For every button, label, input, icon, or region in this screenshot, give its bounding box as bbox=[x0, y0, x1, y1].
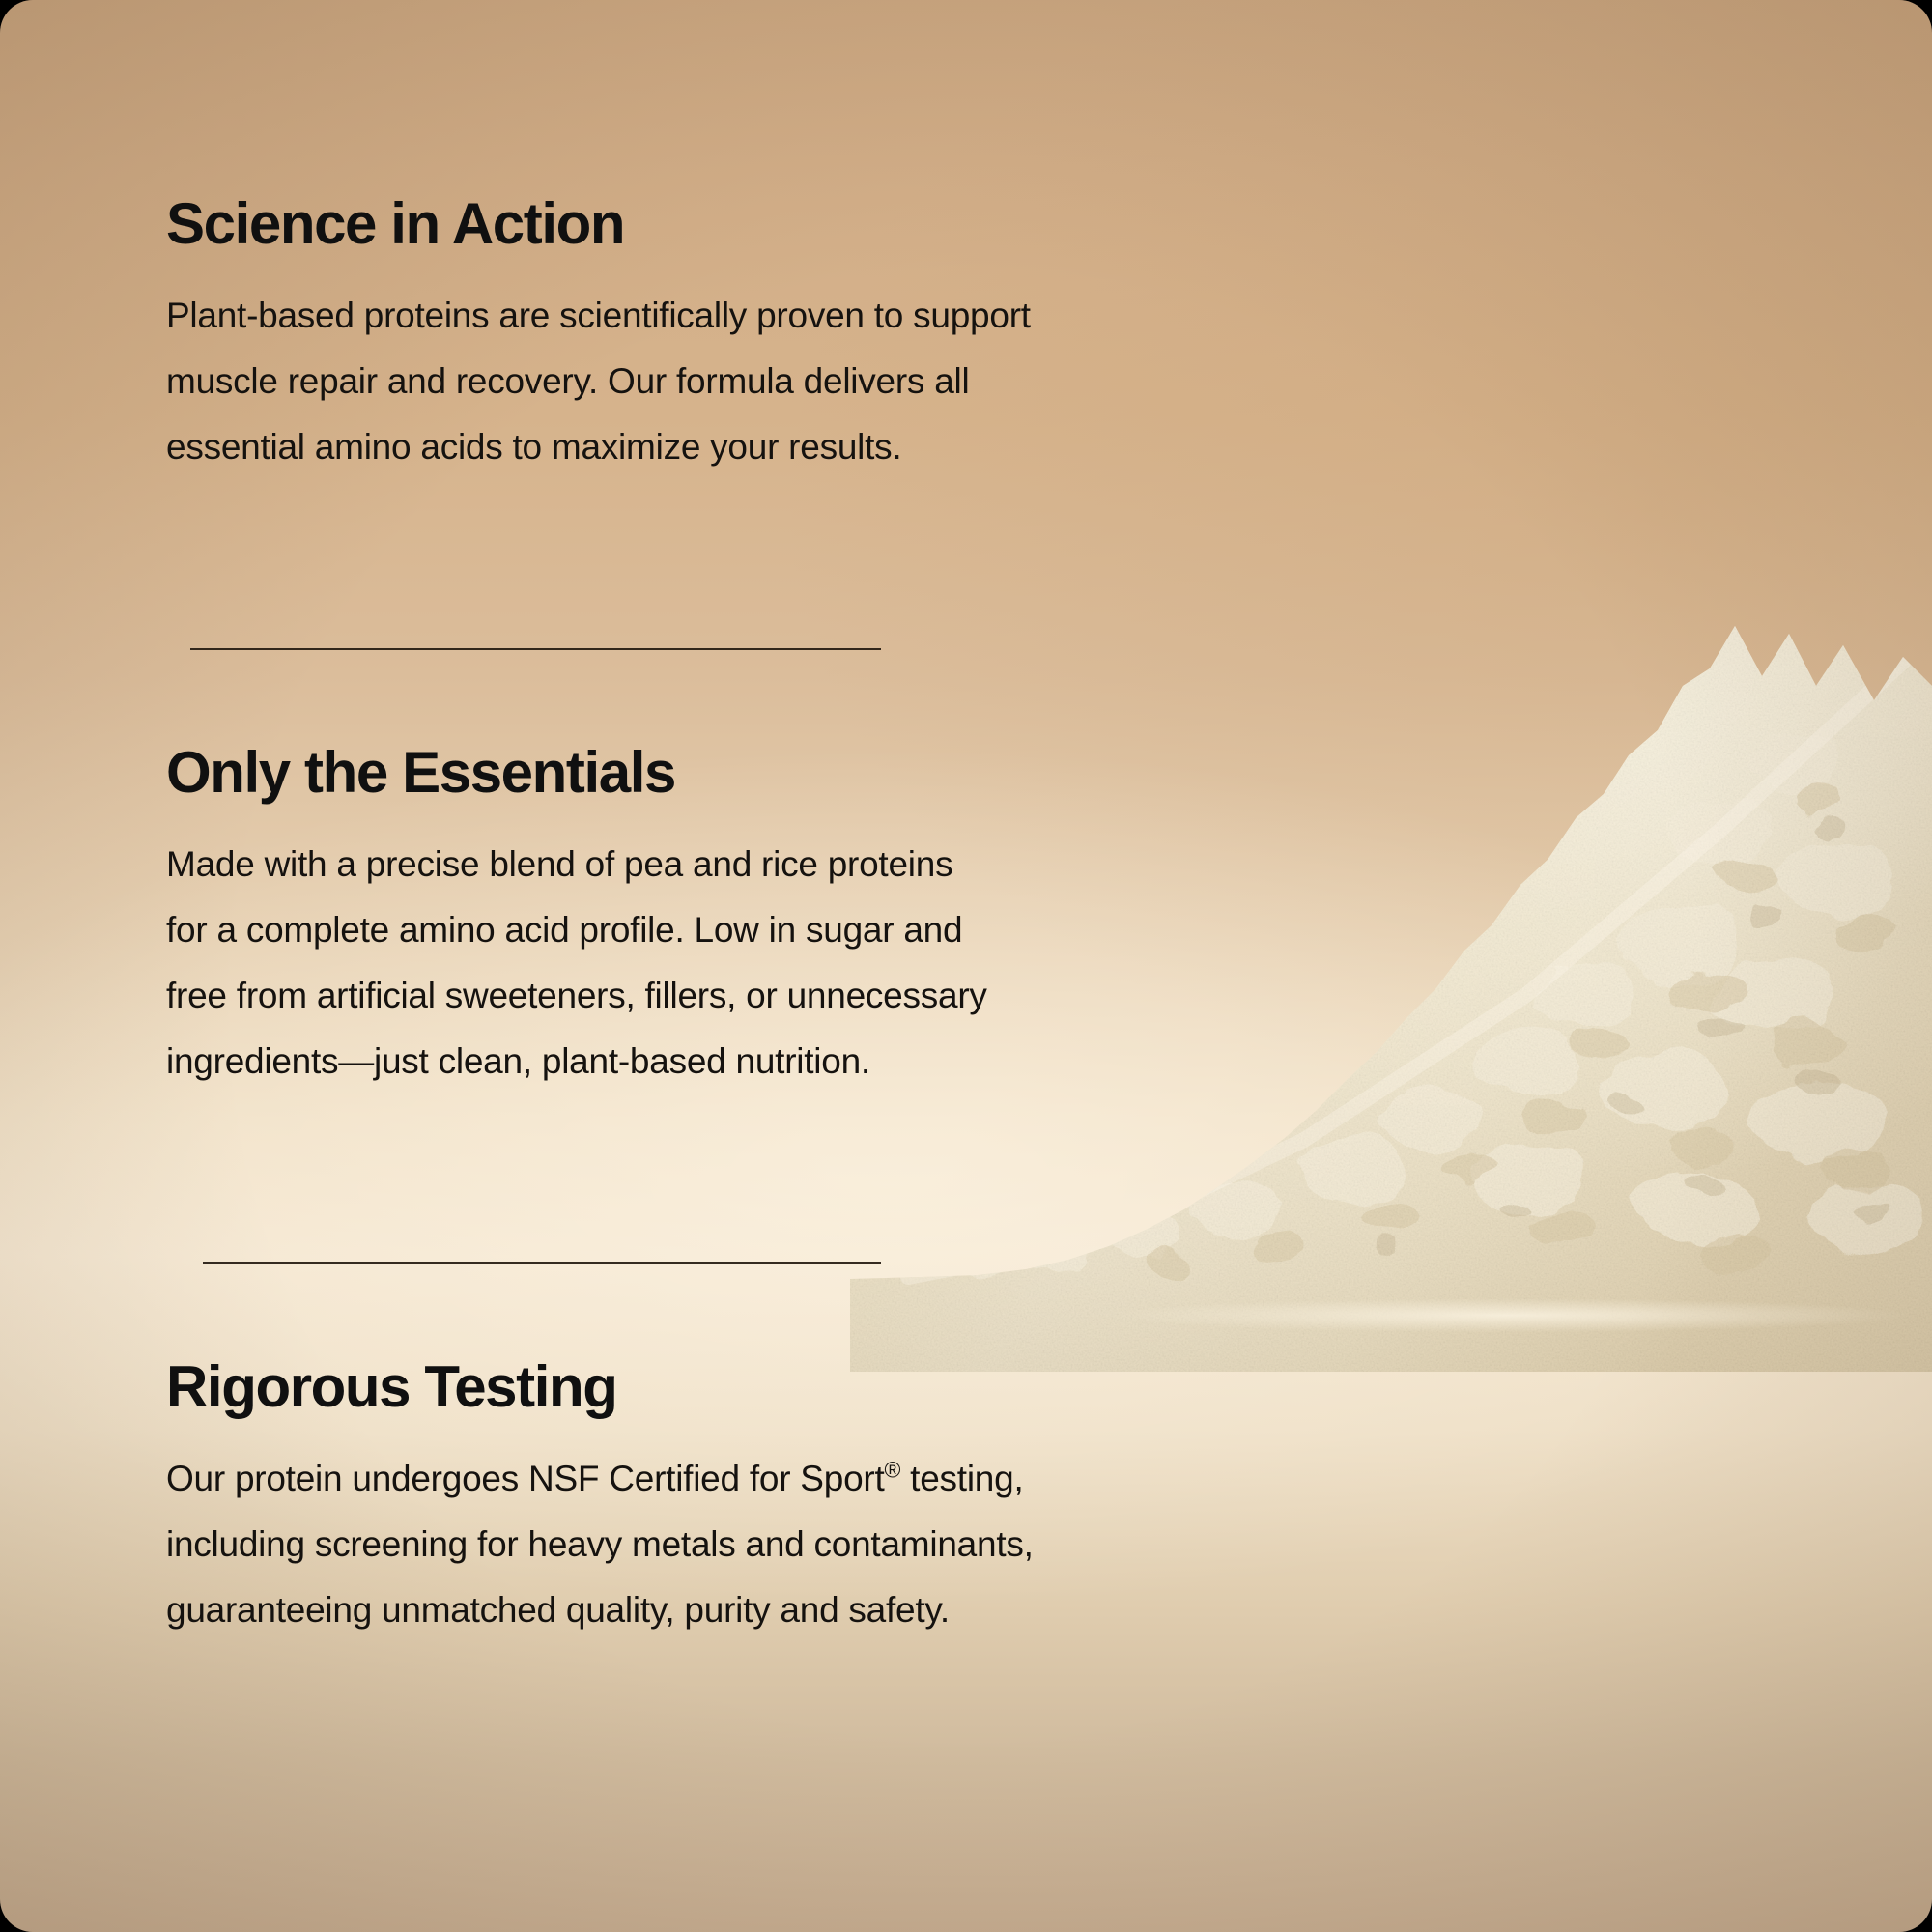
section-heading: Rigorous Testing bbox=[166, 1356, 1034, 1417]
section-divider bbox=[190, 648, 881, 650]
section-body: Made with a precise blend of pea and ric… bbox=[166, 832, 987, 1094]
section-rigorous-testing: Rigorous Testing Our protein undergoes N… bbox=[166, 1356, 1034, 1643]
body-line: Our protein undergoes NSF Certified for … bbox=[166, 1446, 1034, 1512]
section-body: Plant-based proteins are scientifically … bbox=[166, 283, 1031, 480]
body-line: ingredients—just clean, plant-based nutr… bbox=[166, 1029, 987, 1094]
body-line-text: Our protein undergoes NSF Certified for … bbox=[166, 1459, 885, 1498]
body-line: free from artificial sweeteners, fillers… bbox=[166, 963, 987, 1029]
body-line: guaranteeing unmatched quality, purity a… bbox=[166, 1577, 1034, 1643]
registered-trademark-mark: ® bbox=[885, 1458, 901, 1483]
body-line: Made with a precise blend of pea and ric… bbox=[166, 832, 987, 897]
body-line: for a complete amino acid profile. Low i… bbox=[166, 897, 987, 963]
section-science-in-action: Science in Action Plant-based proteins a… bbox=[166, 193, 1031, 480]
body-line-text: testing, bbox=[900, 1459, 1023, 1498]
powder-mound-image bbox=[850, 541, 1932, 1372]
section-only-the-essentials: Only the Essentials Made with a precise … bbox=[166, 742, 987, 1094]
section-divider bbox=[203, 1262, 881, 1264]
body-line: essential amino acids to maximize your r… bbox=[166, 414, 1031, 480]
powder-mound-svg bbox=[850, 541, 1932, 1372]
body-line: Plant-based proteins are scientifically … bbox=[166, 283, 1031, 349]
section-heading: Science in Action bbox=[166, 193, 1031, 254]
promo-card: Science in Action Plant-based proteins a… bbox=[0, 0, 1932, 1932]
body-line: muscle repair and recovery. Our formula … bbox=[166, 349, 1031, 414]
section-body: Our protein undergoes NSF Certified for … bbox=[166, 1446, 1034, 1643]
section-heading: Only the Essentials bbox=[166, 742, 987, 803]
body-line: including screening for heavy metals and… bbox=[166, 1512, 1034, 1577]
